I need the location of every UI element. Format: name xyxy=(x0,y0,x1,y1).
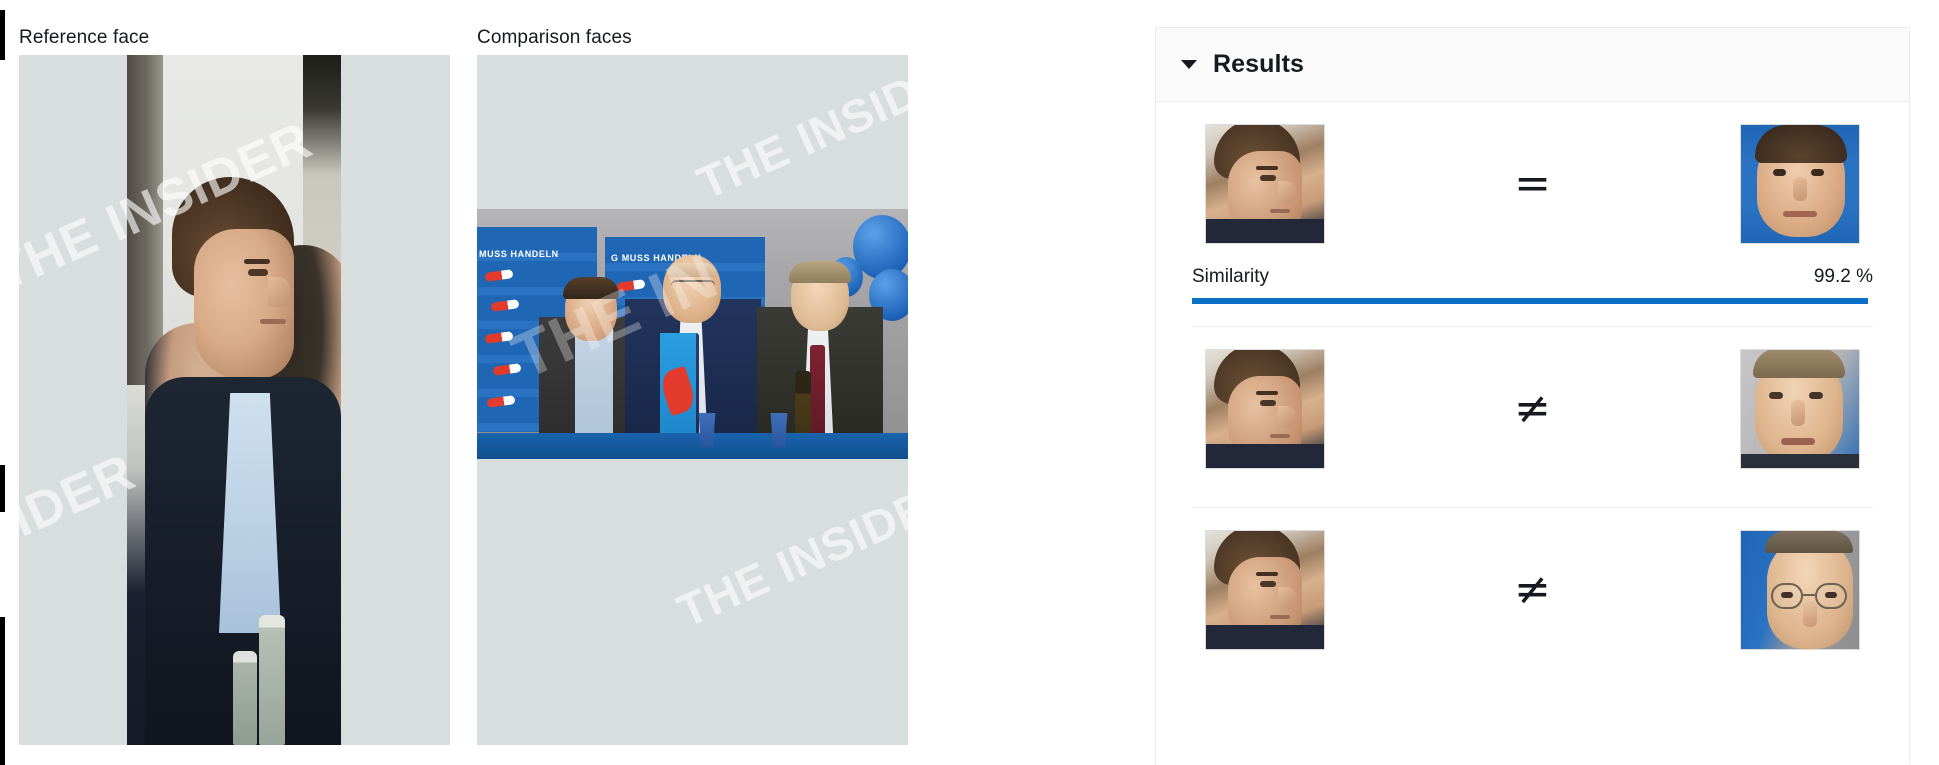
result-row: = Similarity 99.2 % xyxy=(1180,102,1885,327)
watermark-comparison-top: THE INSIDER xyxy=(689,55,908,210)
page-edge-strip xyxy=(0,0,5,765)
results-header[interactable]: Results xyxy=(1156,28,1909,102)
results-list: = Similarity 99.2 % xyxy=(1156,102,1909,650)
comparison-face-2-thumbnail[interactable] xyxy=(1740,349,1860,469)
reference-face-thumbnail[interactable] xyxy=(1205,124,1325,244)
result-row: ≠ xyxy=(1180,327,1885,508)
afd-flag xyxy=(660,333,696,438)
face-comparison-screen: Reference face THE INSIDER SIDER Compa xyxy=(0,0,1939,765)
comparison-faces-label: Comparison faces xyxy=(477,27,632,49)
comparison-faces-image-panel[interactable]: MUSS HANDELN G MUSS HANDELN xyxy=(477,55,908,745)
result-row: ≠ xyxy=(1180,508,1885,650)
banner-left-text: MUSS HANDELN xyxy=(479,249,559,259)
reference-face-thumbnail[interactable] xyxy=(1205,349,1325,469)
equals-icon: = xyxy=(1514,162,1551,206)
results-title: Results xyxy=(1213,50,1304,79)
reference-face-thumbnail[interactable] xyxy=(1205,530,1325,650)
not-equals-icon: ≠ xyxy=(1514,568,1551,612)
results-panel: Results = Similarity 99.2 % xyxy=(1155,27,1910,765)
triangle-down-icon[interactable] xyxy=(1181,60,1197,69)
similarity-value: 99.2 % xyxy=(1814,266,1873,288)
reference-face-label: Reference face xyxy=(19,27,149,49)
reference-face-image-panel[interactable]: THE INSIDER SIDER xyxy=(19,55,450,745)
watermark-reference-bottom: SIDER xyxy=(19,442,144,563)
comparison-face-1-thumbnail[interactable] xyxy=(1740,124,1860,244)
comparison-photo: MUSS HANDELN G MUSS HANDELN xyxy=(477,209,908,459)
similarity-progress-bar xyxy=(1192,298,1873,304)
comparison-face-3-thumbnail[interactable] xyxy=(1740,530,1860,650)
not-equals-icon: ≠ xyxy=(1514,387,1551,431)
watermark-comparison-bottom: THE INSIDER xyxy=(669,466,908,638)
reference-photo xyxy=(127,55,341,745)
similarity-label: Similarity xyxy=(1192,266,1269,288)
